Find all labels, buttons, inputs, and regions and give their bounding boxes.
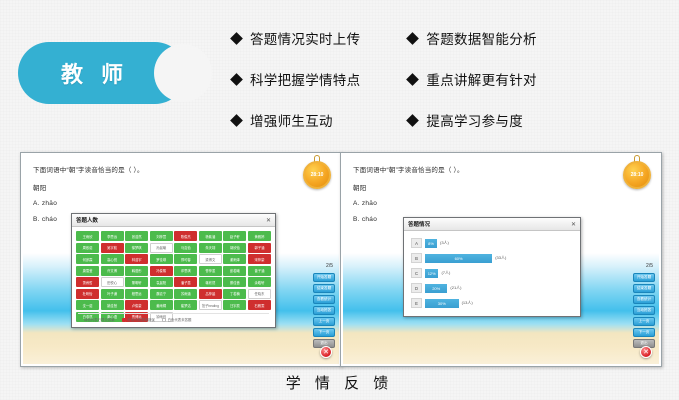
legend-item: 绿色代表已提交答案 [78, 317, 115, 322]
tool-prev-page[interactable]: 上一页 [313, 317, 335, 326]
grid-cell-student[interactable]: 蔡佳音 [223, 277, 246, 287]
grid-cell-student[interactable]: 汪宇辰 [223, 300, 246, 310]
chart-option-key: C [411, 268, 422, 278]
grid-cell-student[interactable]: 郑可馨 [174, 254, 197, 264]
feature-item: 提高学习参与度 [408, 110, 536, 130]
grid-cell-student[interactable]: 袁晨阳 [150, 277, 173, 287]
grid-cell-student[interactable]: 徐梦琪 [125, 243, 148, 253]
grid-cell-student[interactable]: 田悦心 [101, 277, 124, 287]
page-indicator: 2/5 [646, 263, 653, 269]
chart-bar-percent: 20% [432, 286, 440, 291]
grid-cell-student[interactable]: 梁博文 [199, 254, 222, 264]
grid-cell-student[interactable]: 彭若曦 [223, 266, 246, 276]
tool-next-page[interactable]: 下一页 [313, 328, 335, 337]
grid-cell-student[interactable]: 叶子谦 [101, 289, 124, 299]
feature-bullet-columns: 答题情况实时上传 科学把握学情特点 增强师生互动 答题数据智能分析 重点讲解更有… [232, 28, 537, 130]
diamond-bullet-icon [407, 114, 420, 127]
tool-next-page[interactable]: 下一页 [633, 328, 655, 337]
feature-item-label: 提高学习参与度 [426, 110, 523, 130]
diamond-bullet-icon [230, 32, 243, 45]
legend-swatch-icon [122, 318, 126, 322]
answer-count-dialog: 答题人数 ✕ 王雨欣李思远张浩然刘梓萱陈俊杰杨紫涵赵子轩黄雅婷周依诺吴宇航徐梦琪… [71, 213, 276, 328]
screenshot-panel-right: 下面词语中“朝”字读音恰当的是（ ）。 朝阳 A. zhāo B. cháo 2… [340, 152, 662, 367]
diamond-bullet-icon [230, 114, 243, 127]
grid-cell-student[interactable]: 姜雨桐 [150, 300, 173, 310]
side-toolbar-right[interactable]: 开始答题 结束答题 查看统计 互动抢答 上一页 下一页 退出 [633, 273, 655, 348]
feature-item: 增强师生互动 [232, 110, 360, 130]
grid-cell-student[interactable]: 任晓东 [248, 289, 271, 299]
grid-cell-student[interactable]: 姚佳慧 [101, 300, 124, 310]
grid-cell-student[interactable]: 苏雨涵 [174, 289, 197, 299]
feature-item-label: 增强师生互动 [250, 110, 333, 130]
chart-bar-row: C12%(7人) [411, 268, 572, 278]
diamond-bullet-icon [407, 73, 420, 86]
grid-cell-student[interactable]: 唐雪莹 [76, 266, 99, 276]
chart-bar-percent: 12% [428, 271, 436, 276]
chart-bar-count: (3人) [440, 240, 449, 246]
chart-bar-fill: 30% [425, 299, 459, 308]
question-word: 朝阳 [33, 182, 305, 192]
close-icon[interactable]: ✕ [320, 346, 332, 358]
chart-bar-fill: 12% [425, 269, 438, 278]
grid-cell-student[interactable]: 张浩然 [125, 231, 148, 241]
chart-bar-fill: 8% [425, 239, 437, 248]
role-badge-notch [154, 44, 212, 102]
chart-bar-count: (33人) [495, 255, 506, 261]
feature-item-label: 科学把握学情特点 [250, 69, 360, 89]
grid-cell-student[interactable]: 沈一诺 [76, 300, 99, 310]
chart-option-key: B [411, 253, 422, 263]
grid-cell-student[interactable]: 潘子墨 [174, 277, 197, 287]
chart-bar-count: (21人) [450, 285, 461, 291]
dialog-titlebar: 答题情况 ✕ [404, 218, 580, 231]
tool-view-statistics[interactable]: 查看统计 [313, 295, 335, 304]
chart-bar-fill: 60% [425, 254, 492, 263]
grid-cell-student[interactable]: 萧睿哲 [76, 277, 99, 287]
tool-end-answering[interactable]: 结束答题 [313, 284, 335, 293]
countdown-timer-badge: 28:10 [623, 161, 651, 189]
chart-option-key: E [411, 298, 422, 308]
chart-bar-track: 60%(33人) [425, 254, 572, 263]
answer-distribution-chart: A8%(3人)B60%(33人)C12%(7人)D20%(21人)E30%(13… [404, 231, 580, 312]
tool-end-answering[interactable]: 结束答题 [633, 284, 655, 293]
chart-bar-count: (7人) [441, 270, 450, 276]
grid-cell-student[interactable]: 周依诺 [76, 243, 99, 253]
grid-cell-student[interactable]: 谢雨泽 [223, 254, 246, 264]
tool-start-answering[interactable]: 开始答题 [633, 273, 655, 282]
diamond-bullet-icon [407, 32, 420, 45]
answer-statistics-dialog: 答题情况 ✕ A8%(3人)B60%(33人)C12%(7人)D20%(21人)… [403, 217, 581, 317]
screenshot-right-content: 下面词语中“朝”字读音恰当的是（ ）。 朝阳 A. zhāo B. cháo 2… [343, 155, 659, 364]
countdown-timer-badge: 28:10 [303, 161, 331, 189]
page-indicator: 2/5 [326, 263, 333, 269]
grid-cell-student[interactable]: 韩语彤 [125, 266, 148, 276]
grid-cell-student[interactable]: 黄雅婷 [248, 231, 271, 241]
chart-bar-track: 12%(7人) [425, 269, 572, 278]
dialog-titlebar: 答题人数 ✕ [72, 214, 275, 227]
countdown-timer-value: 28:10 [631, 172, 644, 178]
grid-cell-student[interactable]: 许文博 [101, 266, 124, 276]
chart-option-key: D [411, 283, 422, 293]
legend-item: 白色代表未答题 [162, 317, 192, 322]
grid-cell-student[interactable]: 曹梓墨 [199, 266, 222, 276]
grid-cell-student[interactable]: 何彦霖 [76, 254, 99, 264]
tool-quick-answer[interactable]: 互动抢答 [313, 306, 335, 315]
grid-cell-student[interactable]: 曾子涵 [248, 266, 271, 276]
role-badge-label: 教 师 [61, 57, 129, 89]
grid-cell-student[interactable]: 卢俊豪 [125, 300, 148, 310]
grid-cell-student[interactable]: 吕梓晨 [199, 289, 222, 299]
chart-bar-percent: 30% [438, 301, 446, 306]
question-stem: 下面词语中“朝”字读音恰当的是（ ）。 [33, 164, 305, 174]
legend-label: 白色代表未答题 [168, 317, 192, 322]
legend-swatch-icon [162, 318, 166, 322]
grid-cell-student[interactable]: 程思远 [125, 289, 148, 299]
grid-cell-student[interactable]: 马嘉怡 [174, 243, 197, 253]
legend-label: 绿色代表已提交答案 [84, 317, 115, 322]
feature-item: 答题情况实时上传 [232, 28, 360, 48]
grid-cell-student[interactable]: 刘梓萱 [150, 231, 173, 241]
grid-cell-student[interactable]: 胡欣怡 [223, 243, 246, 253]
tool-quick-answer[interactable]: 互动抢答 [633, 306, 655, 315]
chart-bar-row: B60%(33人) [411, 253, 572, 263]
grid-cell-student[interactable]: 余皓轩 [248, 277, 271, 287]
question-word: 朝阳 [353, 182, 625, 192]
chart-bar-track: 20%(21人) [425, 284, 572, 293]
legend-item: 红色代表答案错误 [122, 317, 155, 322]
grid-cell-student[interactable]: 蒋欣然 [199, 277, 222, 287]
grid-cell-student[interactable]: 孙晨曦 [150, 243, 173, 253]
close-icon[interactable]: ✕ [640, 346, 652, 358]
chart-bar-percent: 8% [428, 241, 434, 246]
grid-cell-student[interactable]: 杜昕怡 [76, 289, 99, 299]
dialog-title: 答题人数 [76, 216, 98, 224]
feature-item: 重点讲解更有针对 [408, 69, 536, 89]
header-section: 教 师 答题情况实时上传 科学把握学情特点 增强师生互动 答题数据智能分析 [0, 0, 679, 150]
grid-cell-student[interactable]: 邓思琪 [174, 266, 197, 276]
grid-cell-student[interactable]: 王雨欣 [76, 231, 99, 241]
grid-cell-student[interactable]: 杨紫涵 [199, 231, 222, 241]
grid-cell-student[interactable]: 陈俊杰 [174, 231, 197, 241]
tool-start-answering[interactable]: 开始答题 [313, 273, 335, 282]
side-toolbar-left[interactable]: 开始答题 结束答题 查看统计 互动抢答 上一页 下一页 退出 [313, 273, 335, 348]
question-option-a[interactable]: A. zhāo [33, 200, 305, 207]
chart-bar-fill: 20% [425, 284, 447, 293]
dialog-close-icon[interactable]: ✕ [266, 217, 271, 224]
dialog-title: 答题情况 [408, 220, 430, 228]
feature-item-label: 重点讲解更有针对 [426, 69, 536, 89]
student-name-grid: 王雨欣李思远张浩然刘梓萱陈俊杰杨紫涵赵子轩黄雅婷周依诺吴宇航徐梦琪孙晨曦马嘉怡朱… [72, 227, 275, 322]
chart-option-key: A [411, 238, 422, 248]
chart-bar-row: E30%(13人) [411, 298, 572, 308]
tool-view-statistics[interactable]: 查看统计 [633, 295, 655, 304]
chart-bar-track: 30%(13人) [425, 299, 572, 308]
question-stem: 下面词语中“朝”字读音恰当的是（ ）。 [353, 164, 625, 174]
grid-cell-student[interactable]: 石雅雯 [248, 300, 271, 310]
grid-cell-student[interactable]: 李思远 [101, 231, 124, 241]
grid-cell-student[interactable]: 宋梓豪 [248, 254, 271, 264]
grid-cell-student[interactable]: 冯俊熙 [150, 266, 173, 276]
feature-item: 科学把握学情特点 [232, 69, 360, 89]
legend-swatch-icon [78, 318, 82, 322]
grid-cell-student[interactable]: 高心悦 [101, 254, 124, 264]
grid-cell-student[interactable]: 崔梦洁 [174, 300, 197, 310]
chart-bar-row: A8%(3人) [411, 238, 572, 248]
diamond-bullet-icon [230, 73, 243, 86]
grid-cell-student[interactable]: 罗佳琪 [150, 254, 173, 264]
page-caption: 学 情 反 馈 [0, 372, 679, 393]
chart-bar-count: (13人) [462, 300, 473, 306]
chart-bar-row: D20%(21人) [411, 283, 572, 293]
chart-bar-track: 8%(3人) [425, 239, 572, 248]
grid-cell-student[interactable]: 董明轩 [125, 277, 148, 287]
grid-cell-student[interactable]: 丁若楠 [223, 289, 246, 299]
grid-cell-student[interactable]: 吴宇航 [101, 243, 124, 253]
question-option-a[interactable]: A. zhāo [353, 200, 625, 207]
grid-legend: 绿色代表已提交答案红色代表答案错误白色代表未答题 [78, 313, 269, 322]
feature-column-right: 答题数据智能分析 重点讲解更有针对 提高学习参与度 [408, 28, 536, 130]
legend-label: 红色代表答案错误 [128, 317, 155, 322]
dialog-close-icon[interactable]: ✕ [571, 221, 576, 228]
grid-cell-student[interactable]: 林浩宇 [125, 254, 148, 264]
grid-cell-student[interactable]: 赵子轩 [223, 231, 246, 241]
grid-cell-student[interactable]: 魏嘉宁 [150, 289, 173, 299]
grid-cell-student[interactable]: 郭子涵 [248, 243, 271, 253]
countdown-timer-value: 28:10 [311, 172, 324, 178]
screenshot-panel-left: 下面词语中“朝”字读音恰当的是（ ）。 朝阳 A. zhāo B. cháo 2… [20, 152, 342, 367]
feature-column-left: 答题情况实时上传 科学把握学情特点 增强师生互动 [232, 28, 360, 130]
feature-item: 答题数据智能分析 [408, 28, 536, 48]
grid-cell-student[interactable]: 范子healing [199, 300, 222, 310]
screenshot-panels: 下面词语中“朝”字读音恰当的是（ ）。 朝阳 A. zhāo B. cháo 2… [0, 152, 679, 370]
chart-bar-percent: 60% [455, 256, 463, 261]
screenshot-left-content: 下面词语中“朝”字读音恰当的是（ ）。 朝阳 A. zhāo B. cháo 2… [23, 155, 339, 364]
grid-cell-student[interactable]: 朱天翊 [199, 243, 222, 253]
feature-item-label: 答题数据智能分析 [426, 28, 536, 48]
tool-prev-page[interactable]: 上一页 [633, 317, 655, 326]
feature-item-label: 答题情况实时上传 [250, 28, 360, 48]
